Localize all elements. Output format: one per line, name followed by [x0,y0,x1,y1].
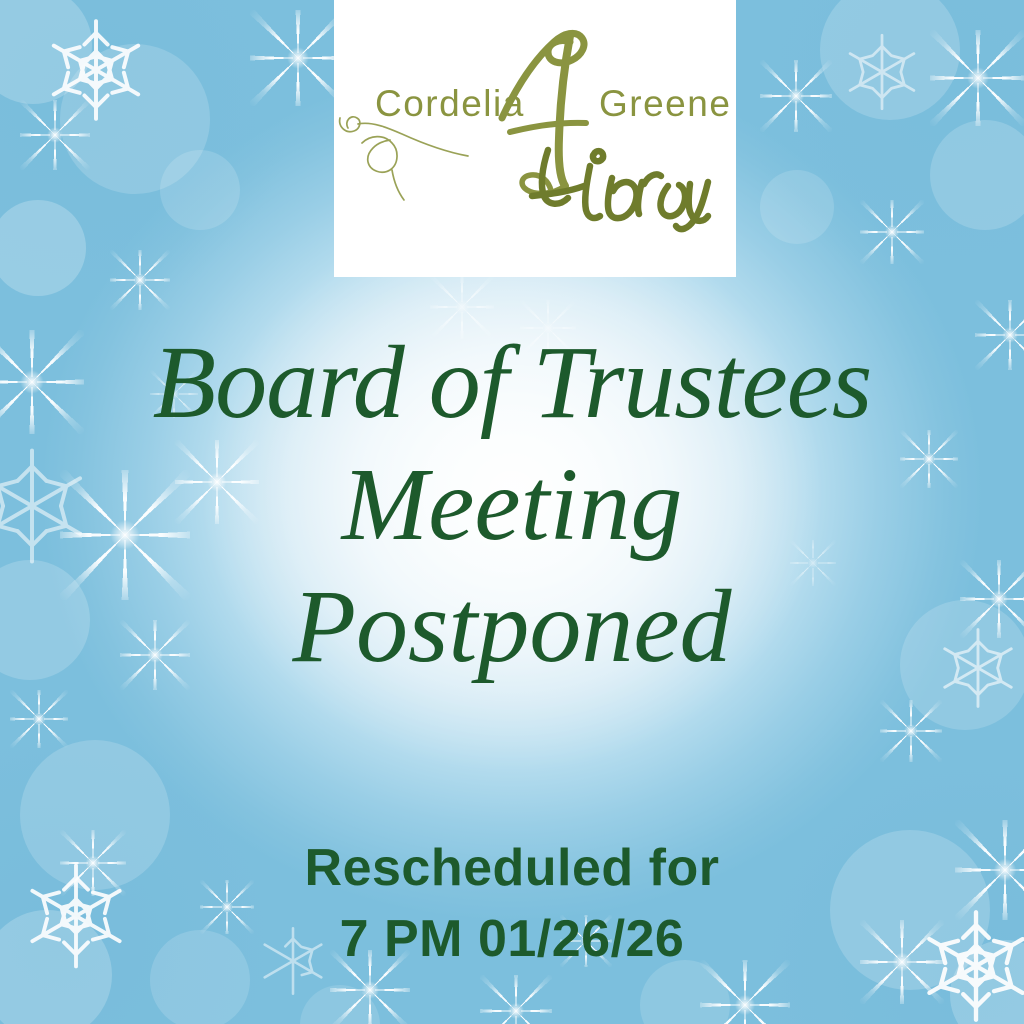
subtext-line-1: Rescheduled for [0,838,1024,899]
svg-text:Greene: Greene [599,83,731,124]
library-logo: Cordelia Greene [334,0,736,277]
poster-canvas: Cordelia Greene [0,0,1024,1024]
headline-block: Board of Trustees Meeting Postponed [0,330,1024,680]
library-logo-card: Cordelia Greene [334,0,736,277]
headline-line-1: Board of Trustees [0,330,1024,436]
headline-line-2: Meeting [0,452,1024,558]
subtext-block: Rescheduled for 7 PM 01/26/26 [0,838,1024,971]
headline-line-3: Postponed [0,574,1024,680]
subtext-line-2: 7 PM 01/26/26 [0,909,1024,970]
